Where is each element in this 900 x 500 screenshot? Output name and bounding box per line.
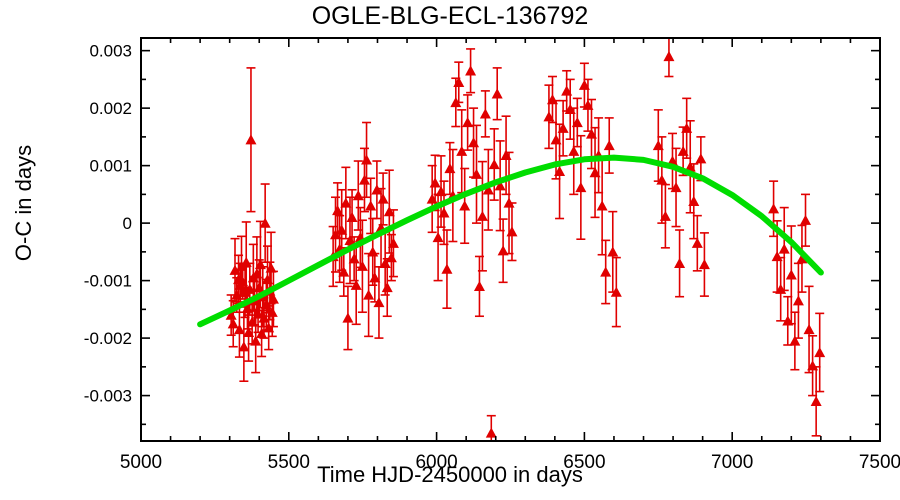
data-point-marker <box>492 88 503 98</box>
data-point-marker <box>430 177 441 187</box>
data-point-marker <box>245 134 256 144</box>
data-point-marker <box>465 65 476 75</box>
error-bars-group <box>227 38 825 441</box>
data-point-marker <box>699 259 710 269</box>
data-point-marker <box>811 396 822 406</box>
y-tick-label: 0.002 <box>89 99 132 118</box>
data-point-marker <box>365 200 376 210</box>
data-point-marker <box>779 243 790 253</box>
data-point-marker <box>361 154 372 164</box>
y-tick-label: 0 <box>123 214 132 233</box>
data-point-marker <box>489 159 500 169</box>
plot-canvas: 5000550060006500700075000.0030.0020.0010… <box>0 0 900 500</box>
data-point-marker <box>506 226 517 236</box>
data-point-marker <box>597 200 608 210</box>
y-tick-label: -0.001 <box>84 272 132 291</box>
data-point-marker <box>604 140 615 150</box>
data-point-marker <box>441 264 452 274</box>
data-point-marker <box>260 218 271 228</box>
data-point-marker <box>359 174 370 184</box>
y-tick-label: -0.002 <box>84 329 132 348</box>
x-tick-label: 5000 <box>120 452 162 473</box>
data-point-marker <box>607 246 618 256</box>
data-point-marker <box>814 347 825 357</box>
x-tick-label: 7500 <box>859 452 900 473</box>
data-point-marker <box>468 137 479 147</box>
y-tick-label: 0.001 <box>89 157 132 176</box>
x-tick-label: 6500 <box>563 452 605 473</box>
data-point-marker <box>674 258 685 268</box>
data-point-marker <box>462 117 473 127</box>
data-point-marker <box>342 312 353 322</box>
y-tick-label: 0.003 <box>89 42 132 61</box>
data-point-marker <box>367 246 378 256</box>
plot-border <box>141 38 880 441</box>
plot-frame <box>141 38 880 441</box>
data-point-marker <box>804 324 815 334</box>
fitted-curve <box>200 158 821 325</box>
chart-root: OGLE-BLG-ECL-136792 O-C in days Time HJD… <box>0 0 900 500</box>
data-point-marker <box>695 153 706 163</box>
data-point-marker <box>459 200 470 210</box>
x-tick-label: 6000 <box>415 452 457 473</box>
data-point-marker <box>480 108 491 118</box>
x-tick-label: 7000 <box>711 452 753 473</box>
x-tick-label: 5500 <box>268 452 310 473</box>
data-point-marker <box>353 190 364 200</box>
data-point-marker <box>241 257 252 267</box>
data-point-marker <box>768 203 779 213</box>
data-point-marker <box>498 245 509 255</box>
data-point-marker <box>793 295 804 305</box>
data-point-marker <box>600 266 611 276</box>
data-point-marker <box>663 51 674 61</box>
data-point-marker <box>363 289 374 299</box>
data-point-marker <box>800 215 811 225</box>
data-point-marker <box>471 169 482 179</box>
data-point-marker <box>786 269 797 279</box>
data-point-marker <box>438 207 449 217</box>
axis-ticks-group <box>141 38 880 441</box>
data-point-marker <box>444 163 455 173</box>
data-point-marker <box>378 193 389 203</box>
data-point-marker <box>575 182 586 192</box>
data-point-marker <box>382 282 393 292</box>
data-point-marker <box>433 232 444 242</box>
data-point-marker <box>501 150 512 160</box>
fitted-curve-path <box>200 158 821 325</box>
data-markers-group <box>226 51 826 438</box>
data-point-marker <box>477 211 488 221</box>
data-point-marker <box>474 281 485 291</box>
y-tick-label: -0.003 <box>84 387 132 406</box>
data-point-marker <box>347 212 358 222</box>
